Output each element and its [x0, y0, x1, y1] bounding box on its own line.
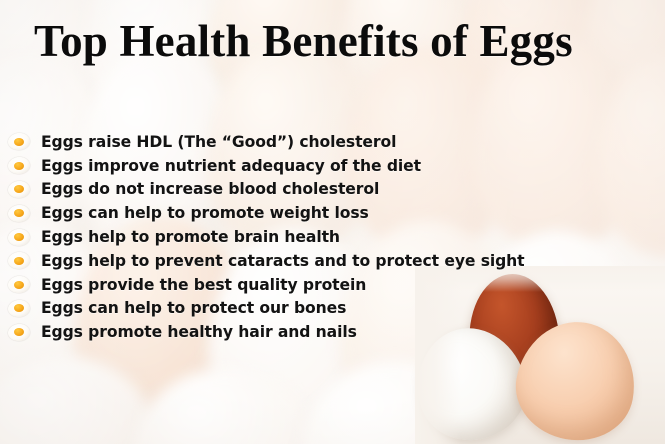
benefit-text: Eggs help to promote brain health — [41, 228, 340, 246]
fried-egg-bullet-icon — [8, 205, 30, 222]
list-item: Eggs raise HDL (The “Good”) cholesterol — [8, 130, 658, 154]
fried-egg-bullet-icon — [8, 252, 30, 269]
list-item: Eggs provide the best quality protein — [8, 273, 658, 297]
benefit-text: Eggs can help to promote weight loss — [41, 204, 369, 222]
benefit-text: Eggs help to prevent cataracts and to pr… — [41, 252, 525, 270]
list-item: Eggs do not increase blood cholesterol — [8, 178, 658, 202]
list-item: Eggs can help to promote weight loss — [8, 201, 658, 225]
egg-yolk-shape — [14, 281, 24, 289]
benefit-text: Eggs promote healthy hair and nails — [41, 323, 357, 341]
egg-yolk-shape — [14, 162, 24, 170]
fried-egg-bullet-icon — [8, 300, 30, 317]
infographic-poster: Top Health Benefits of Eggs Eggs raise H… — [0, 0, 665, 444]
benefit-text: Eggs raise HDL (The “Good”) cholesterol — [41, 133, 396, 151]
list-item: Eggs promote healthy hair and nails — [8, 320, 658, 344]
list-item: Eggs can help to protect our bones — [8, 297, 658, 321]
list-item: Eggs help to promote brain health — [8, 225, 658, 249]
egg-yolk-shape — [14, 257, 24, 265]
benefits-list: Eggs raise HDL (The “Good”) cholesterol … — [8, 130, 658, 344]
list-item: Eggs improve nutrient adequacy of the di… — [8, 154, 658, 178]
benefit-text: Eggs provide the best quality protein — [41, 276, 366, 294]
fried-egg-bullet-icon — [8, 276, 30, 293]
fried-egg-bullet-icon — [8, 133, 30, 150]
benefit-text: Eggs do not increase blood cholesterol — [41, 180, 379, 198]
page-title: Top Health Benefits of Eggs — [34, 14, 634, 68]
fried-egg-bullet-icon — [8, 229, 30, 246]
fried-egg-bullet-icon — [8, 157, 30, 174]
fried-egg-bullet-icon — [8, 324, 30, 341]
benefit-text: Eggs improve nutrient adequacy of the di… — [41, 157, 421, 175]
list-item: Eggs help to prevent cataracts and to pr… — [8, 249, 658, 273]
benefit-text: Eggs can help to protect our bones — [41, 299, 346, 317]
egg-yolk-shape — [14, 138, 24, 146]
fried-egg-bullet-icon — [8, 181, 30, 198]
